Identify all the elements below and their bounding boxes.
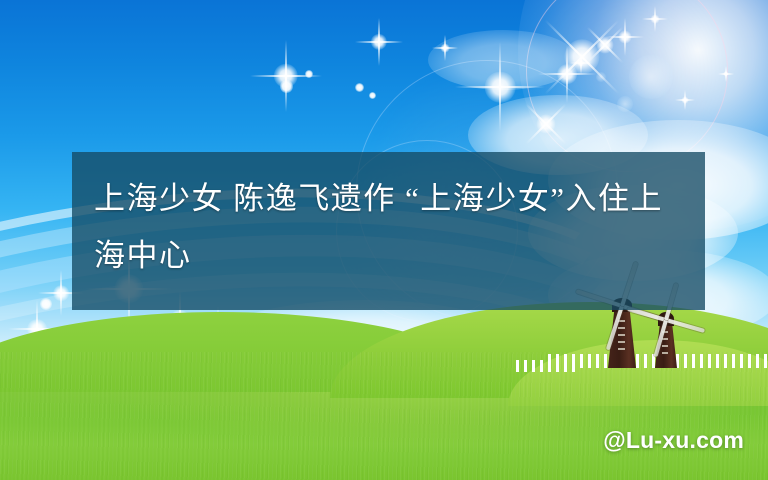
sparkle-icon <box>355 18 403 66</box>
sparkle-dot <box>355 83 364 92</box>
sparkle-icon <box>718 66 734 82</box>
sparkle-dot <box>305 70 313 78</box>
sparkle-icon <box>432 35 458 61</box>
sparkle-icon <box>606 18 644 56</box>
windmill-right <box>655 320 677 368</box>
sparkle-dot <box>40 298 52 310</box>
sparkle-icon <box>570 10 641 81</box>
lens-flare-orb <box>629 55 673 99</box>
sparkle-icon <box>538 45 596 103</box>
lens-flare-orb <box>617 96 633 112</box>
windmill-windows <box>618 320 625 355</box>
lens-flare-orb <box>596 72 606 82</box>
sparkle-icon <box>570 52 592 74</box>
sparkle-icon <box>455 42 545 132</box>
site-watermark: @Lu-xu.com <box>603 427 744 454</box>
sparkle-icon <box>675 90 695 110</box>
lens-flare-ring <box>526 0 728 172</box>
sparkle-dot <box>369 92 376 99</box>
banner-headline: 上海少女 陈逸飞遗作 “上海少女”入住上海中心 <box>94 170 683 284</box>
sparkle-icon <box>642 6 668 32</box>
meadow-ground <box>0 352 768 480</box>
title-banner: 上海少女 陈逸飞遗作 “上海少女”入住上海中心 <box>72 152 705 310</box>
sparkle-icon <box>508 0 655 131</box>
sparkle-icon <box>250 40 322 112</box>
cloud <box>428 30 578 90</box>
sparkle-dot <box>280 80 293 93</box>
banner-image: 上海少女 陈逸飞遗作 “上海少女”入住上海中心 @Lu-xu.com <box>0 0 768 480</box>
windmill-left <box>608 306 636 368</box>
